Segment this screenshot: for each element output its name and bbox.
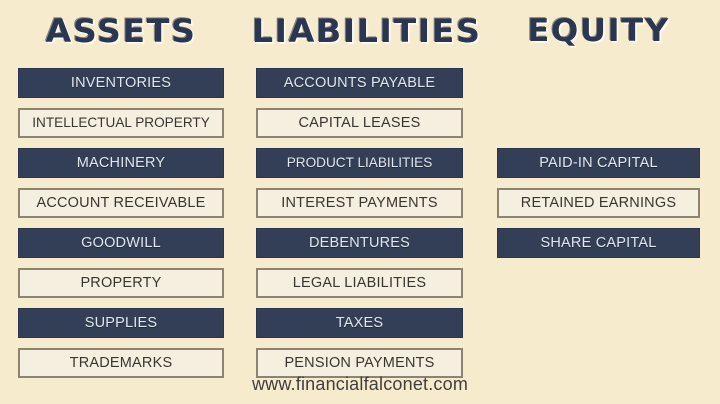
item-label: PROPERTY xyxy=(76,276,165,291)
item-liabilities-6: TAXES xyxy=(256,308,463,338)
column-heading-assets: ASSETS xyxy=(14,14,228,48)
item-label: GOODWILL xyxy=(77,236,165,251)
item-liabilities-3: INTEREST PAYMENTS xyxy=(256,188,463,218)
item-label: MACHINERY xyxy=(73,156,170,171)
item-list-assets: INVENTORIESINTELLECTUAL PROPERTYMACHINER… xyxy=(18,68,224,388)
item-list-liabilities: ACCOUNTS PAYABLECAPITAL LEASESPRODUCT LI… xyxy=(256,68,463,388)
balance-sheet-infographic: ASSETS INVENTORIESINTELLECTUAL PROPERTYM… xyxy=(0,0,720,404)
item-assets-4: GOODWILL xyxy=(18,228,224,258)
item-equity-1: RETAINED EARNINGS xyxy=(497,188,700,218)
item-liabilities-2: PRODUCT LIABILITIES xyxy=(256,148,463,178)
item-assets-2: MACHINERY xyxy=(18,148,224,178)
item-liabilities-5: LEGAL LIABILITIES xyxy=(256,268,463,298)
item-label: SUPPLIES xyxy=(81,316,162,331)
item-equity-2: SHARE CAPITAL xyxy=(497,228,700,258)
item-label: ACCOUNT RECEIVABLE xyxy=(32,196,209,211)
item-liabilities-1: CAPITAL LEASES xyxy=(256,108,463,138)
column-heading-equity: EQUITY xyxy=(493,14,704,48)
item-liabilities-4: DEBENTURES xyxy=(256,228,463,258)
item-label: PENSION PAYMENTS xyxy=(280,356,438,371)
column-heading-liabilities: LIABILITIES xyxy=(252,14,467,48)
item-assets-1: INTELLECTUAL PROPERTY xyxy=(18,108,224,138)
item-label: INTELLECTUAL PROPERTY xyxy=(28,116,214,130)
footer-website-url: www.financialfalconet.com xyxy=(0,374,720,395)
item-assets-5: PROPERTY xyxy=(18,268,224,298)
item-label: RETAINED EARNINGS xyxy=(517,196,680,211)
item-label: PAID-IN CAPITAL xyxy=(535,156,661,171)
item-label: INTEREST PAYMENTS xyxy=(277,196,441,211)
item-label: PRODUCT LIABILITIES xyxy=(283,156,437,170)
item-label: CAPITAL LEASES xyxy=(294,116,424,131)
item-liabilities-0: ACCOUNTS PAYABLE xyxy=(256,68,463,98)
item-label: DEBENTURES xyxy=(305,236,414,251)
item-assets-6: SUPPLIES xyxy=(18,308,224,338)
item-label: TRADEMARKS xyxy=(66,356,177,371)
item-equity-0: PAID-IN CAPITAL xyxy=(497,148,700,178)
item-label: ACCOUNTS PAYABLE xyxy=(280,76,439,91)
item-list-equity: PAID-IN CAPITALRETAINED EARNINGSSHARE CA… xyxy=(497,148,700,268)
item-assets-0: INVENTORIES xyxy=(18,68,224,98)
item-assets-3: ACCOUNT RECEIVABLE xyxy=(18,188,224,218)
item-label: TAXES xyxy=(332,316,387,331)
item-label: INVENTORIES xyxy=(67,76,175,91)
item-label: LEGAL LIABILITIES xyxy=(289,276,430,291)
item-label: SHARE CAPITAL xyxy=(537,236,661,251)
